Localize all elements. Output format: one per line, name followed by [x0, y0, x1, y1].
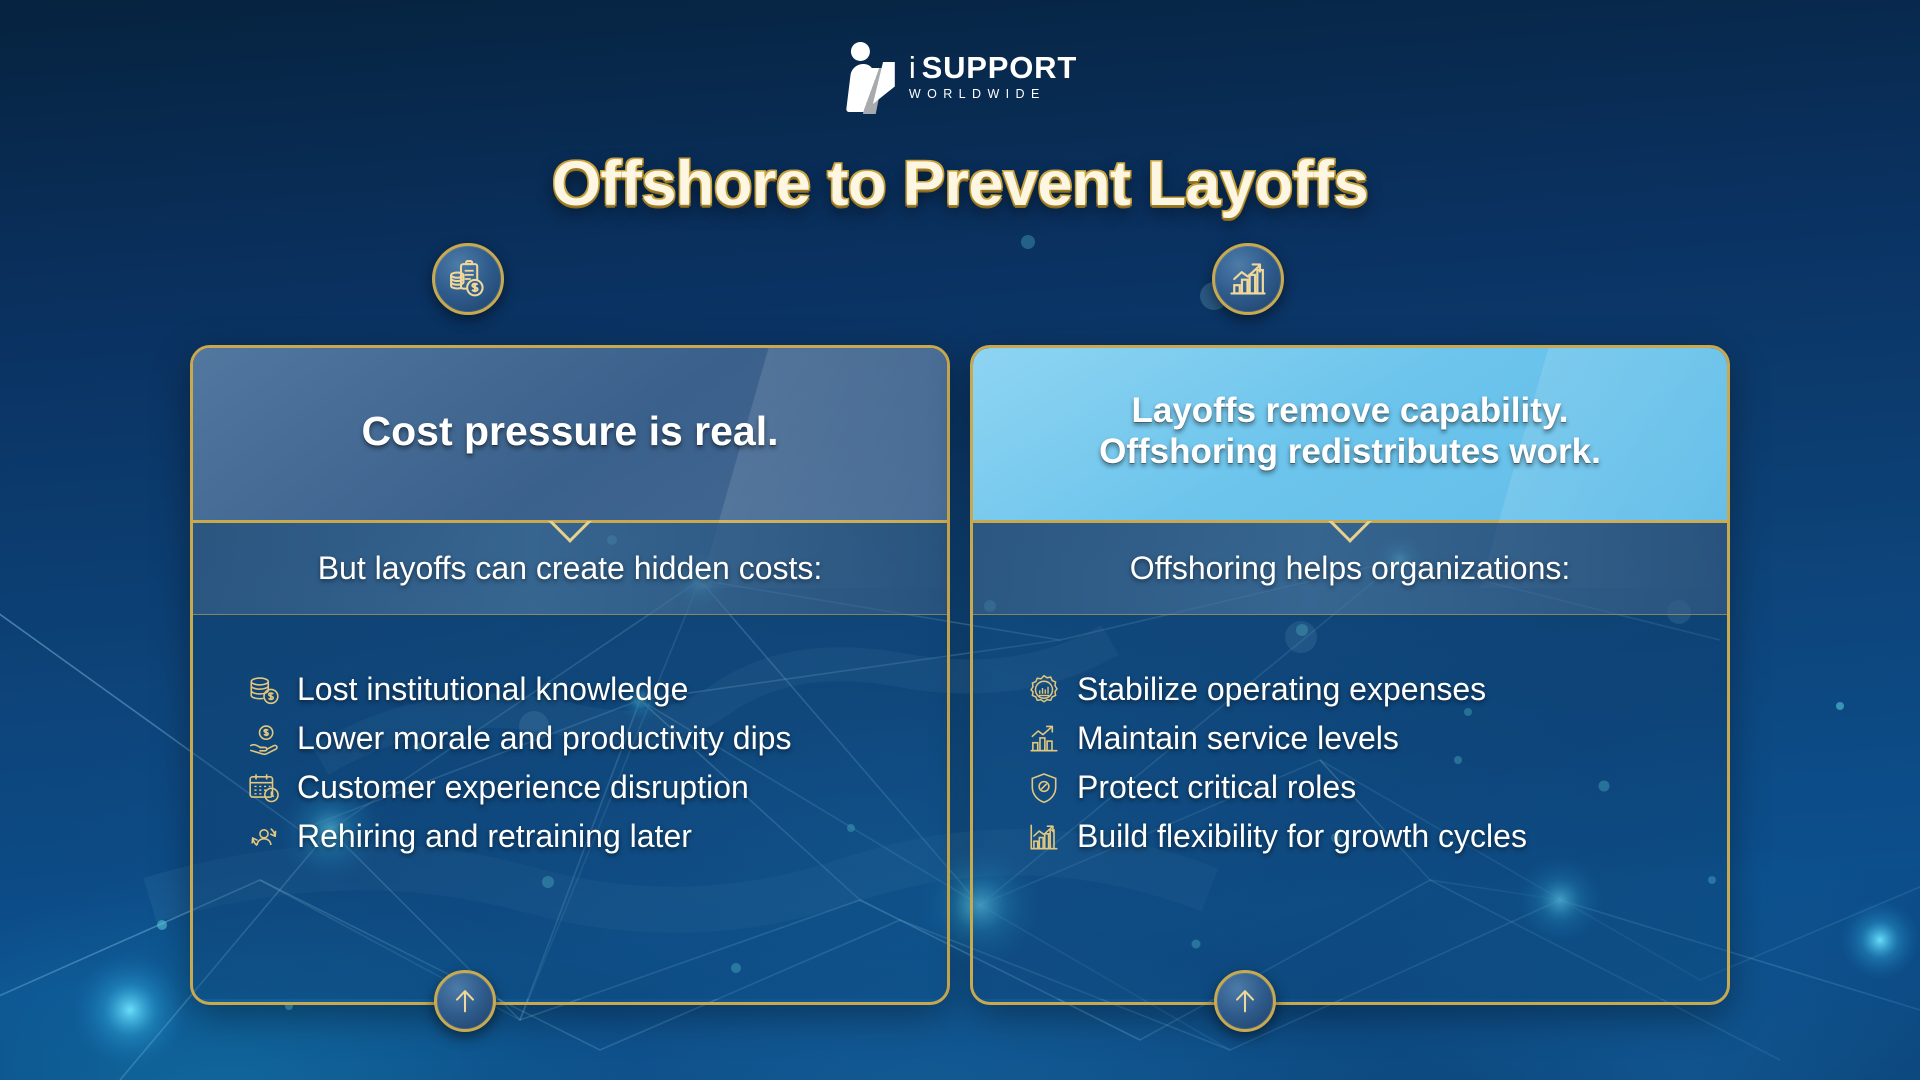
list-item-label: Customer experience disruption	[297, 770, 749, 805]
list-item-label: Stabilize operating expenses	[1077, 672, 1486, 707]
list-item: Stabilize operating expenses	[1025, 671, 1727, 709]
card-left-bullet-list: Lost institutional knowledge Lower moral…	[245, 671, 947, 856]
list-item-label: Rehiring and retraining later	[297, 819, 692, 854]
card-cost-pressure: Cost pressure is real. But layoffs can c…	[190, 345, 950, 1005]
list-item: Maintain service levels	[1025, 720, 1727, 758]
chevron-down-notch-icon	[1323, 521, 1377, 547]
list-item: Protect critical roles	[1025, 769, 1727, 807]
card-right-headline: Layoffs remove capability. Offshoring re…	[1099, 390, 1601, 473]
list-item-label: Lower morale and productivity dips	[297, 721, 791, 756]
card-right-header: Layoffs remove capability. Offshoring re…	[973, 348, 1727, 523]
infographic-canvas: iSUPPORT WORLDWIDE Offshore to Prevent L…	[0, 0, 1920, 1080]
gear-chart-icon	[1025, 671, 1063, 709]
card-right-headline-line1: Layoffs remove capability.	[1099, 390, 1601, 431]
card-left-headline: Cost pressure is real.	[361, 407, 778, 455]
badge-clipboard-coins-dollar	[432, 243, 504, 315]
arrow-up-icon	[1230, 986, 1260, 1016]
bar-chart-arrow-icon	[1025, 720, 1063, 758]
card-left-body: Lost institutional knowledge Lower moral…	[193, 615, 947, 999]
card-right-bullet-list: Stabilize operating expenses Main	[1025, 671, 1727, 856]
coin-stack-dollar-icon	[245, 671, 283, 709]
list-item-label: Lost institutional knowledge	[297, 672, 688, 707]
badge-growth-chart	[1212, 243, 1284, 315]
growth-chart-arrow-icon	[1226, 257, 1270, 301]
card-offshoring-benefits: Layoffs remove capability. Offshoring re…	[970, 345, 1730, 1005]
list-item-label: Protect critical roles	[1077, 770, 1356, 805]
brand-tagline: WORLDWIDE	[909, 86, 1077, 102]
person-refresh-icon	[245, 818, 283, 856]
hand-holding-coin-icon	[245, 720, 283, 758]
chevron-down-notch-icon	[543, 521, 597, 547]
shield-check-icon	[1025, 769, 1063, 807]
list-item: Lower morale and productivity dips	[245, 720, 947, 758]
brand-name: iSUPPORT	[909, 52, 1077, 84]
card-right-headline-line2: Offshoring redistributes work.	[1099, 431, 1601, 472]
clipboard-coins-dollar-icon	[446, 257, 490, 301]
card-right-subheader: Offshoring helps organizations:	[973, 523, 1727, 615]
arrow-up-icon	[450, 986, 480, 1016]
list-item: Build flexibility for growth cycles	[1025, 818, 1727, 856]
card-left-subheadline: But layoffs can create hidden costs:	[318, 550, 823, 587]
isupport-figure-logo-icon	[843, 40, 895, 114]
brand-name-main: SUPPORT	[922, 50, 1077, 85]
list-item: Lost institutional knowledge	[245, 671, 947, 709]
badge-arrow-up-left	[434, 970, 496, 1032]
card-left-subheader: But layoffs can create hidden costs:	[193, 523, 947, 615]
brand-name-prefix: i	[909, 50, 917, 85]
list-item: Customer experience disruption	[245, 769, 947, 807]
page-title: Offshore to Prevent Layoffs	[0, 148, 1920, 220]
list-item-label: Build flexibility for growth cycles	[1077, 819, 1527, 854]
list-item: Rehiring and retraining later	[245, 818, 947, 856]
calendar-clock-icon	[245, 769, 283, 807]
brand-logo: iSUPPORT WORLDWIDE	[843, 38, 1077, 116]
card-right-body: Stabilize operating expenses Main	[973, 615, 1727, 999]
badge-arrow-up-right	[1214, 970, 1276, 1032]
list-item-label: Maintain service levels	[1077, 721, 1399, 756]
card-right-subheadline: Offshoring helps organizations:	[1130, 550, 1571, 587]
card-left-header: Cost pressure is real.	[193, 348, 947, 523]
growth-chart-icon	[1025, 818, 1063, 856]
